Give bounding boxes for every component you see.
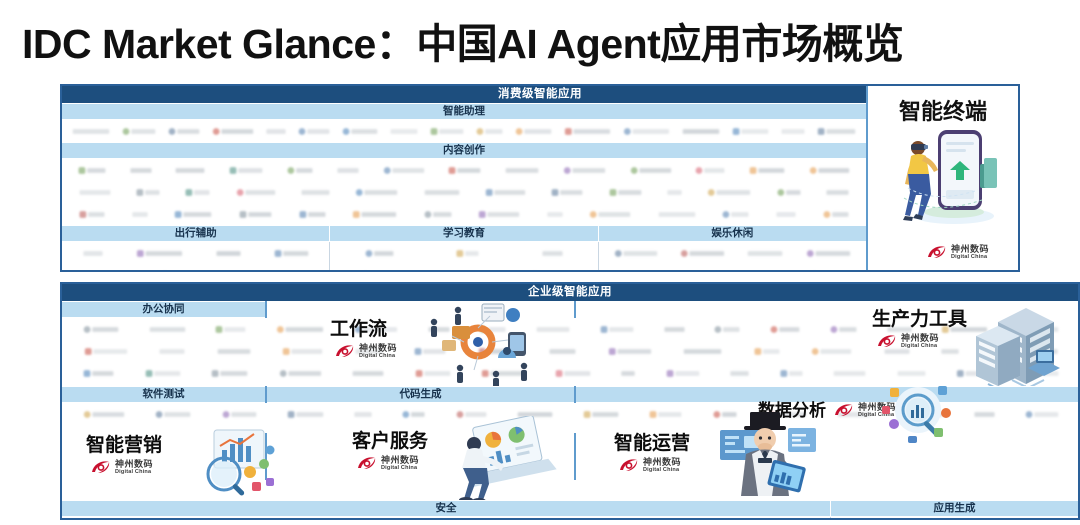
vendor-logo-mark-icon	[84, 370, 114, 377]
vendor-logo-mark-icon	[85, 348, 127, 355]
vendor-logo-mark-icon	[130, 168, 151, 173]
enterprise-label-app-generation: 应用生成	[831, 500, 1078, 517]
workflow-network-people-illustration	[412, 296, 542, 388]
vendor-logo-mark-icon	[542, 251, 562, 256]
vendor-logo-mark-icon	[897, 371, 925, 376]
person-laptop-dashboard-illustration	[450, 416, 558, 508]
magnifier-charts-illustration	[190, 426, 282, 498]
vendor-logo-mark-icon	[506, 168, 539, 173]
consumer-subcategory-travel: 出行辅助	[62, 226, 330, 241]
brand-text: 神州数码 Digital China	[359, 344, 397, 360]
vendor-logo-mark-icon	[288, 167, 313, 174]
person-vr-smartphone-illustration	[880, 120, 1010, 228]
brand-text: 神州数码 Digital China	[643, 458, 681, 474]
digital-china-mark-icon	[833, 402, 855, 419]
brand-text: 神州数码 Digital China	[951, 245, 989, 261]
digital-china-mark-icon	[926, 244, 948, 261]
vendor-logo-mark-icon	[230, 167, 263, 174]
brand-logo-smart-terminal: 神州数码 Digital China	[926, 244, 989, 261]
vendor-logo-row	[64, 517, 830, 518]
vendor-logo-mark-icon	[550, 349, 576, 354]
digital-china-mark-icon	[618, 457, 640, 474]
vendor-logo-mark-icon	[650, 411, 682, 418]
vendor-logo-mark-icon	[356, 189, 397, 196]
vendor-logo-mark-icon	[132, 212, 147, 217]
businessman-tophat-tablet-illustration	[712, 410, 820, 496]
vendor-logo-mark-icon	[754, 348, 779, 355]
vendor-logo-mark-icon	[302, 190, 330, 195]
vendor-logo-mark-icon	[807, 250, 850, 257]
testing-header-cell: 软件测试	[62, 386, 265, 403]
enterprise-label-security: 安全	[62, 500, 831, 517]
vendor-logo-mark-icon	[343, 128, 378, 135]
vendor-logo-mark-icon	[176, 168, 205, 173]
consumer-categories-area: 智能助理 内容创作 出行辅助 学习教育 娱乐休闲	[62, 103, 866, 270]
row2-right-blank-bar	[576, 386, 1078, 403]
vendor-logo-mark-icon	[974, 412, 994, 417]
vendor-logo-mark-icon	[299, 128, 330, 135]
vendor-logo-mark-icon	[73, 129, 109, 134]
vendor-logo-mark-icon	[403, 411, 425, 418]
feature-intelligent-marketing: 智能营销 神州数码 Digital China	[86, 436, 162, 476]
vendor-logo-mark-icon	[237, 189, 275, 196]
digital-china-mark-icon	[334, 343, 356, 360]
vendor-logo-mark-icon	[156, 411, 191, 418]
vendor-logo-mark-icon	[624, 128, 669, 135]
vendor-logo-mark-icon	[79, 190, 110, 195]
vendor-logo-mark-icon	[84, 411, 124, 418]
vendor-logo-row	[62, 120, 866, 142]
enterprise-section-panel: 企业级智能应用 办公协同 工作流 神州数码	[60, 282, 1080, 520]
vendor-logo-mark-icon	[160, 349, 185, 354]
vendor-logo-mark-icon	[780, 370, 802, 377]
vendor-logo-mark-icon	[810, 167, 849, 174]
vendor-logo-mark-icon	[366, 250, 394, 257]
vendor-logo-mark-icon	[590, 211, 630, 218]
feature-productivity-tools: 生产力工具 神州数码 Digital China	[872, 310, 967, 350]
vendor-logo-mark-icon	[776, 212, 795, 217]
vendor-logo-mark-icon	[477, 128, 503, 135]
brand-logo-productivity-tools: 神州数码 Digital China	[876, 333, 939, 350]
brand-name-cn: 神州数码	[951, 245, 989, 254]
vendor-logo-row	[62, 203, 866, 225]
feature-productivity-tools-label: 生产力工具	[872, 310, 967, 330]
vendor-logo-mark-icon	[280, 370, 321, 377]
vendor-logo-mark-icon	[240, 211, 272, 218]
vendor-logo-mark-icon	[777, 189, 800, 196]
vendor-logo-mark-icon	[781, 129, 804, 134]
vendor-logo-mark-icon	[552, 189, 583, 196]
server-rack-illustration	[968, 292, 1080, 400]
vendor-logo-mark-icon	[84, 326, 119, 333]
enterprise-section-header: 企业级智能应用	[62, 284, 1078, 301]
vendor-logo-mark-icon	[609, 348, 651, 355]
feature-intelligent-marketing-label: 智能营销	[86, 436, 162, 456]
vendor-logo-mark-icon	[733, 128, 769, 135]
vendor-logo-mark-icon	[457, 250, 479, 257]
vendor-logo-mark-icon	[823, 211, 848, 218]
vendor-logo-mark-icon	[431, 128, 464, 135]
vendor-logo-mark-icon	[609, 189, 641, 196]
vendor-logo-mark-icon	[681, 250, 724, 257]
vendor-logo-mark-icon	[277, 326, 323, 333]
vendor-logo-mark-icon	[818, 128, 855, 135]
vendor-logo-mark-icon	[601, 326, 634, 333]
vendor-logo-mark-icon	[622, 371, 635, 376]
vendor-logo-row	[599, 264, 866, 272]
vendor-logo-grid-entertainment	[599, 242, 866, 272]
vendor-logo-row	[330, 264, 597, 272]
vendor-logo-mark-icon	[771, 326, 800, 333]
brand-name-cn: 神州数码	[115, 460, 153, 469]
vendor-logo-mark-icon	[715, 326, 740, 333]
brand-name-en: Digital China	[115, 470, 153, 476]
smart-terminal-highlight-cell: 智能终端	[866, 86, 1018, 270]
digital-china-mark-icon	[90, 459, 112, 476]
vendor-logo-mark-icon	[80, 211, 105, 218]
vendor-logo-mark-icon	[424, 190, 459, 195]
page-title: IDC Market Glance：中国AI Agent应用市场概览	[22, 18, 1062, 70]
consumer-subcategory-entertainment: 娱乐休闲	[599, 226, 866, 241]
vendor-logo-row	[62, 181, 866, 203]
feature-intelligent-operations: 智能运营 神州数码 Digital China	[614, 434, 690, 474]
vendor-logo-mark-icon	[584, 411, 619, 418]
brand-name-cn: 神州数码	[381, 456, 419, 465]
brand-name-en: Digital China	[901, 344, 939, 350]
vendor-logo-mark-icon	[169, 128, 200, 135]
feature-intelligent-operations-label: 智能运营	[614, 434, 690, 454]
vendor-logo-mark-icon	[353, 211, 396, 218]
vendor-logo-mark-icon	[683, 129, 719, 134]
consumer-subcategory-learning: 学习教育	[330, 226, 598, 241]
vendor-logo-mark-icon	[213, 128, 253, 135]
vendor-logo-mark-icon	[149, 327, 185, 332]
vendor-logo-mark-icon	[123, 128, 156, 135]
vendor-logo-mark-icon	[708, 189, 750, 196]
vendor-logo-mark-icon	[812, 348, 851, 355]
brand-text: 神州数码 Digital China	[381, 456, 419, 472]
vendor-logo-mark-icon	[217, 349, 250, 354]
feature-customer-service: 客户服务 神州数码 Digital China	[352, 432, 428, 472]
vendor-logo-mark-icon	[750, 167, 785, 174]
vendor-logo-mark-icon	[212, 370, 248, 377]
digital-china-mark-icon	[356, 455, 378, 472]
vendor-logo-mark-icon	[299, 211, 325, 218]
codegen-header-cell: 代码生成	[267, 386, 574, 403]
vendor-logo-mark-icon	[266, 129, 285, 134]
vendor-logo-mark-icon	[666, 370, 699, 377]
brand-text: 神州数码 Digital China	[901, 334, 939, 350]
vendor-logo-mark-icon	[274, 250, 308, 257]
feature-workflow: 工作流 神州数码 Digital China	[330, 320, 397, 360]
vendor-logo-mark-icon	[222, 411, 256, 418]
vendor-logo-mark-icon	[288, 411, 324, 418]
vendor-logo-mark-icon	[216, 326, 246, 333]
brand-name-en: Digital China	[643, 468, 681, 474]
brand-name-cn: 神州数码	[643, 458, 681, 467]
vendor-logo-mark-icon	[659, 212, 695, 217]
feature-workflow-label: 工作流	[330, 320, 387, 340]
vendor-logo-mark-icon	[555, 370, 590, 377]
vendor-logo-mark-icon	[667, 190, 681, 195]
magnifier-data-icons-illustration	[880, 380, 962, 446]
brand-name-cn: 神州数码	[359, 344, 397, 353]
office-collab-header-cell: 办公协同	[62, 301, 265, 318]
brand-name-en: Digital China	[381, 466, 419, 472]
row2-right-spacer	[576, 386, 1078, 403]
brand-logo-intelligent-marketing: 神州数码 Digital China	[90, 459, 153, 476]
enterprise-bottom-bar: 安全 应用生成	[62, 500, 1078, 517]
vendor-logo-mark-icon	[216, 251, 240, 256]
enterprise-label-software-testing: 软件测试	[62, 386, 265, 403]
vendor-logo-mark-icon	[186, 189, 210, 196]
vendor-logo-mark-icon	[175, 211, 211, 218]
vendor-logo-mark-icon	[383, 167, 423, 174]
vendor-logo-mark-icon	[353, 371, 384, 376]
vendor-logo-mark-icon	[631, 167, 671, 174]
vendor-logo-mark-icon	[1026, 411, 1059, 418]
vendor-logo-mark-icon	[391, 129, 418, 134]
vendor-logo-mark-icon	[731, 371, 749, 376]
vendor-logo-row	[330, 242, 597, 264]
brand-logo-workflow: 神州数码 Digital China	[334, 343, 397, 360]
vendor-logo-grid-security	[64, 517, 831, 518]
vendor-logo-mark-icon	[486, 189, 525, 196]
vendor-logo-mark-icon	[516, 128, 552, 135]
vendor-logo-mark-icon	[827, 190, 849, 195]
vendor-logo-mark-icon	[137, 250, 182, 257]
vendor-logo-row	[62, 264, 329, 272]
vendor-logo-mark-icon	[696, 167, 725, 174]
vendor-logo-mark-icon	[723, 211, 749, 218]
vendor-logo-mark-icon	[830, 326, 856, 333]
feature-customer-service-label: 客户服务	[352, 432, 428, 452]
market-glance-infographic: IDC Market Glance：中国AI Agent应用市场概览 消费级智能…	[0, 0, 1080, 525]
brand-name-cn: 神州数码	[901, 334, 939, 343]
vendor-logo-mark-icon	[337, 168, 358, 173]
vendor-logo-grid-appgen	[831, 517, 1076, 518]
vendor-logo-row	[831, 517, 1076, 518]
vendor-logo-mark-icon	[664, 327, 684, 332]
enterprise-label-code-generation: 代码生成	[267, 386, 574, 403]
consumer-subcategory-grids	[62, 242, 866, 272]
vendor-logo-mark-icon	[479, 211, 519, 218]
consumer-band-label-content: 内容创作	[62, 142, 866, 159]
enterprise-label-office-collab: 办公协同	[62, 301, 265, 318]
vendor-logo-mark-icon	[424, 211, 451, 218]
vendor-logo-row	[599, 242, 866, 264]
vendor-logo-mark-icon	[145, 370, 180, 377]
enterprise-bottom-grids	[64, 517, 1076, 518]
vendor-logo-row	[62, 159, 866, 181]
vendor-logo-grid-assistant	[62, 120, 866, 142]
vendor-logo-grid-travel	[62, 242, 330, 272]
brand-logo-customer-service: 神州数码 Digital China	[356, 455, 419, 472]
brand-name-en: Digital China	[951, 255, 989, 261]
brand-text: 神州数码 Digital China	[115, 460, 153, 476]
vendor-logo-mark-icon	[547, 212, 562, 217]
vendor-logo-mark-icon	[449, 167, 481, 174]
vendor-logo-mark-icon	[565, 128, 610, 135]
consumer-band-label-assistant: 智能助理	[62, 103, 866, 120]
vendor-logo-mark-icon	[78, 167, 105, 174]
brand-logo-intelligent-operations: 神州数码 Digital China	[618, 457, 681, 474]
vendor-logo-mark-icon	[83, 251, 102, 256]
digital-china-mark-icon	[876, 333, 898, 350]
vendor-logo-mark-icon	[136, 189, 159, 196]
vendor-logo-mark-icon	[354, 412, 371, 417]
vendor-logo-mark-icon	[283, 348, 322, 355]
vendor-logo-row	[62, 242, 329, 264]
vendor-logo-grid-learning	[330, 242, 598, 272]
vendor-logo-mark-icon	[684, 349, 721, 354]
vendor-logo-mark-icon	[834, 371, 866, 376]
vendor-logo-grid-content	[62, 159, 866, 225]
consumer-section-panel: 消费级智能应用 智能助理 内容创作 出行辅助 学习教育 娱乐休闲 智能终端	[60, 84, 1020, 272]
vendor-logo-mark-icon	[748, 251, 783, 256]
vendor-logo-mark-icon	[564, 167, 605, 174]
vendor-logo-mark-icon	[615, 250, 657, 257]
brand-name-en: Digital China	[359, 354, 397, 360]
consumer-subcategory-bar: 出行辅助 学习教育 娱乐休闲	[62, 225, 866, 242]
